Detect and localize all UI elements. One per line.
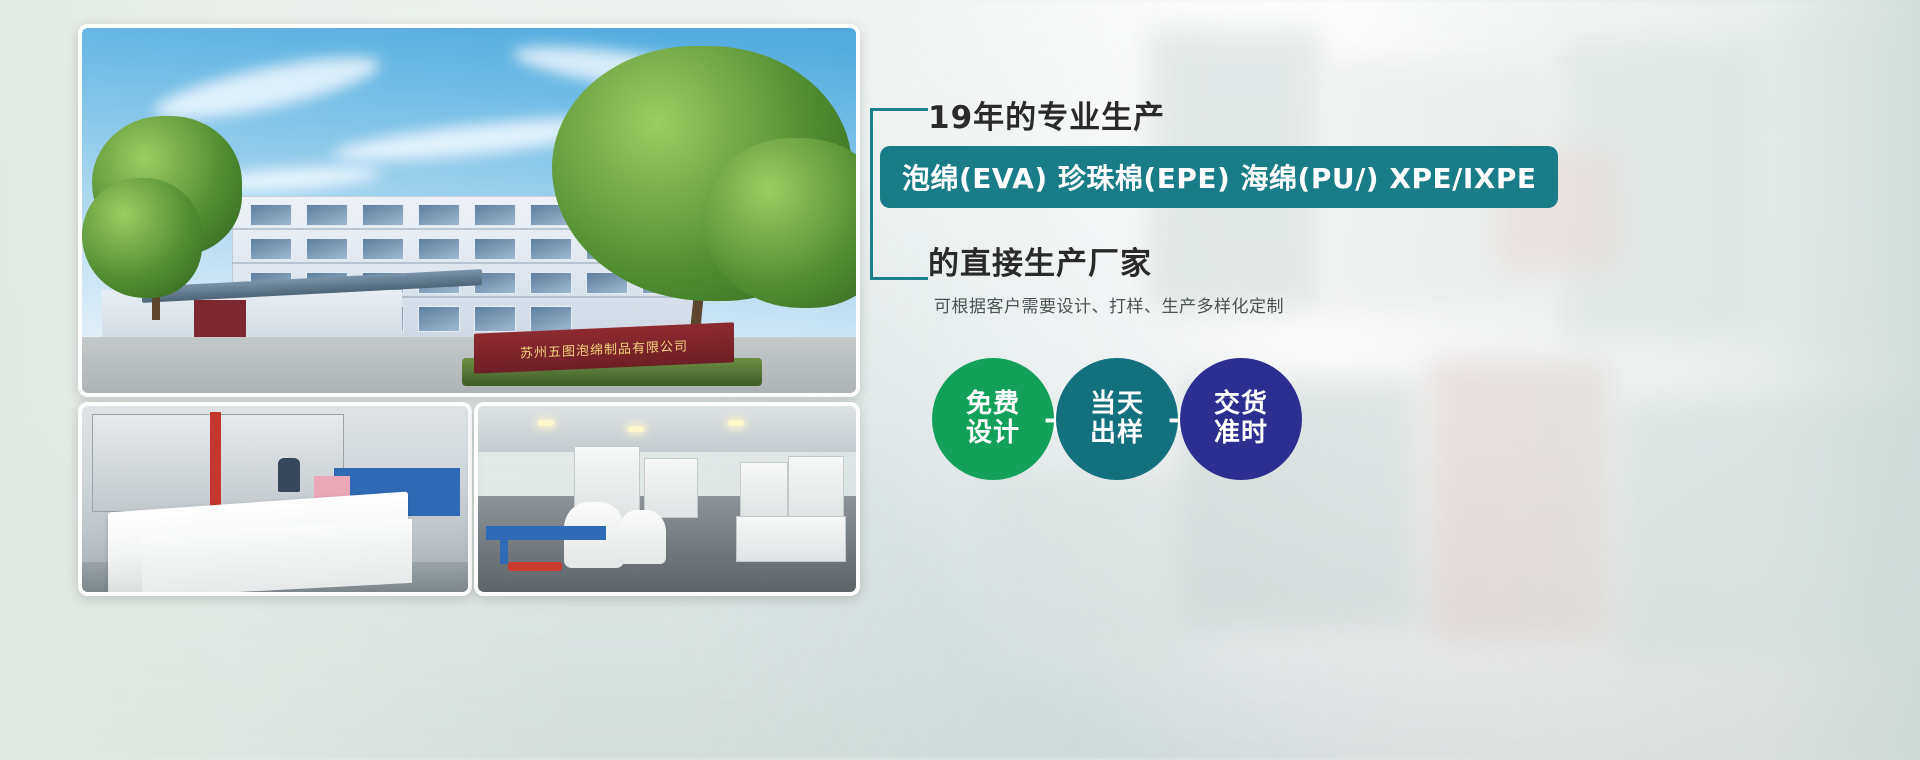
- product-types-pill: 泡绵(EVA) 珍珠棉(EPE) 海绵(PU/) XPE/IXPE: [880, 146, 1558, 208]
- badge-free-design: 免费 设计: [932, 358, 1054, 480]
- badge-line-2: 设计: [966, 419, 1020, 448]
- company-sign-text: 苏州五图泡绵制品有限公司: [520, 335, 688, 361]
- badge-line-2: 准时: [1214, 419, 1268, 448]
- benefit-badges: 免费 设计 + 当天 出样 + 交货 准时: [928, 348, 1408, 508]
- tree: [82, 178, 202, 298]
- copy-panel: 19年的专业生产 泡绵(EVA) 珍珠棉(EPE) 海绵(PU/) XPE/IX…: [928, 0, 1920, 760]
- warehouse-photo: [474, 402, 860, 596]
- photo-collage: 苏州五图泡绵制品有限公司: [78, 24, 860, 596]
- badge-on-time-delivery: 交货 准时: [1180, 358, 1302, 480]
- badge-line-1: 交货: [1214, 390, 1268, 419]
- badge-line-1: 当天: [1090, 390, 1144, 419]
- promo-banner: 苏州五图泡绵制品有限公司: [0, 0, 1920, 760]
- badge-same-day-sample: 当天 出样: [1056, 358, 1178, 480]
- production-line-photo: [78, 402, 472, 596]
- badge-line-2: 出样: [1090, 419, 1144, 448]
- factory-exterior-photo: 苏州五图泡绵制品有限公司: [78, 24, 860, 397]
- badge-line-1: 免费: [966, 390, 1020, 419]
- headline-top: 19年的专业生产: [928, 92, 1165, 137]
- product-types-text: 泡绵(EVA) 珍珠棉(EPE) 海绵(PU/) XPE/IXPE: [902, 157, 1536, 197]
- sub-note: 可根据客户需要设计、打样、生产多样化定制: [934, 292, 1284, 317]
- headline-bottom: 的直接生产厂家: [928, 238, 1152, 283]
